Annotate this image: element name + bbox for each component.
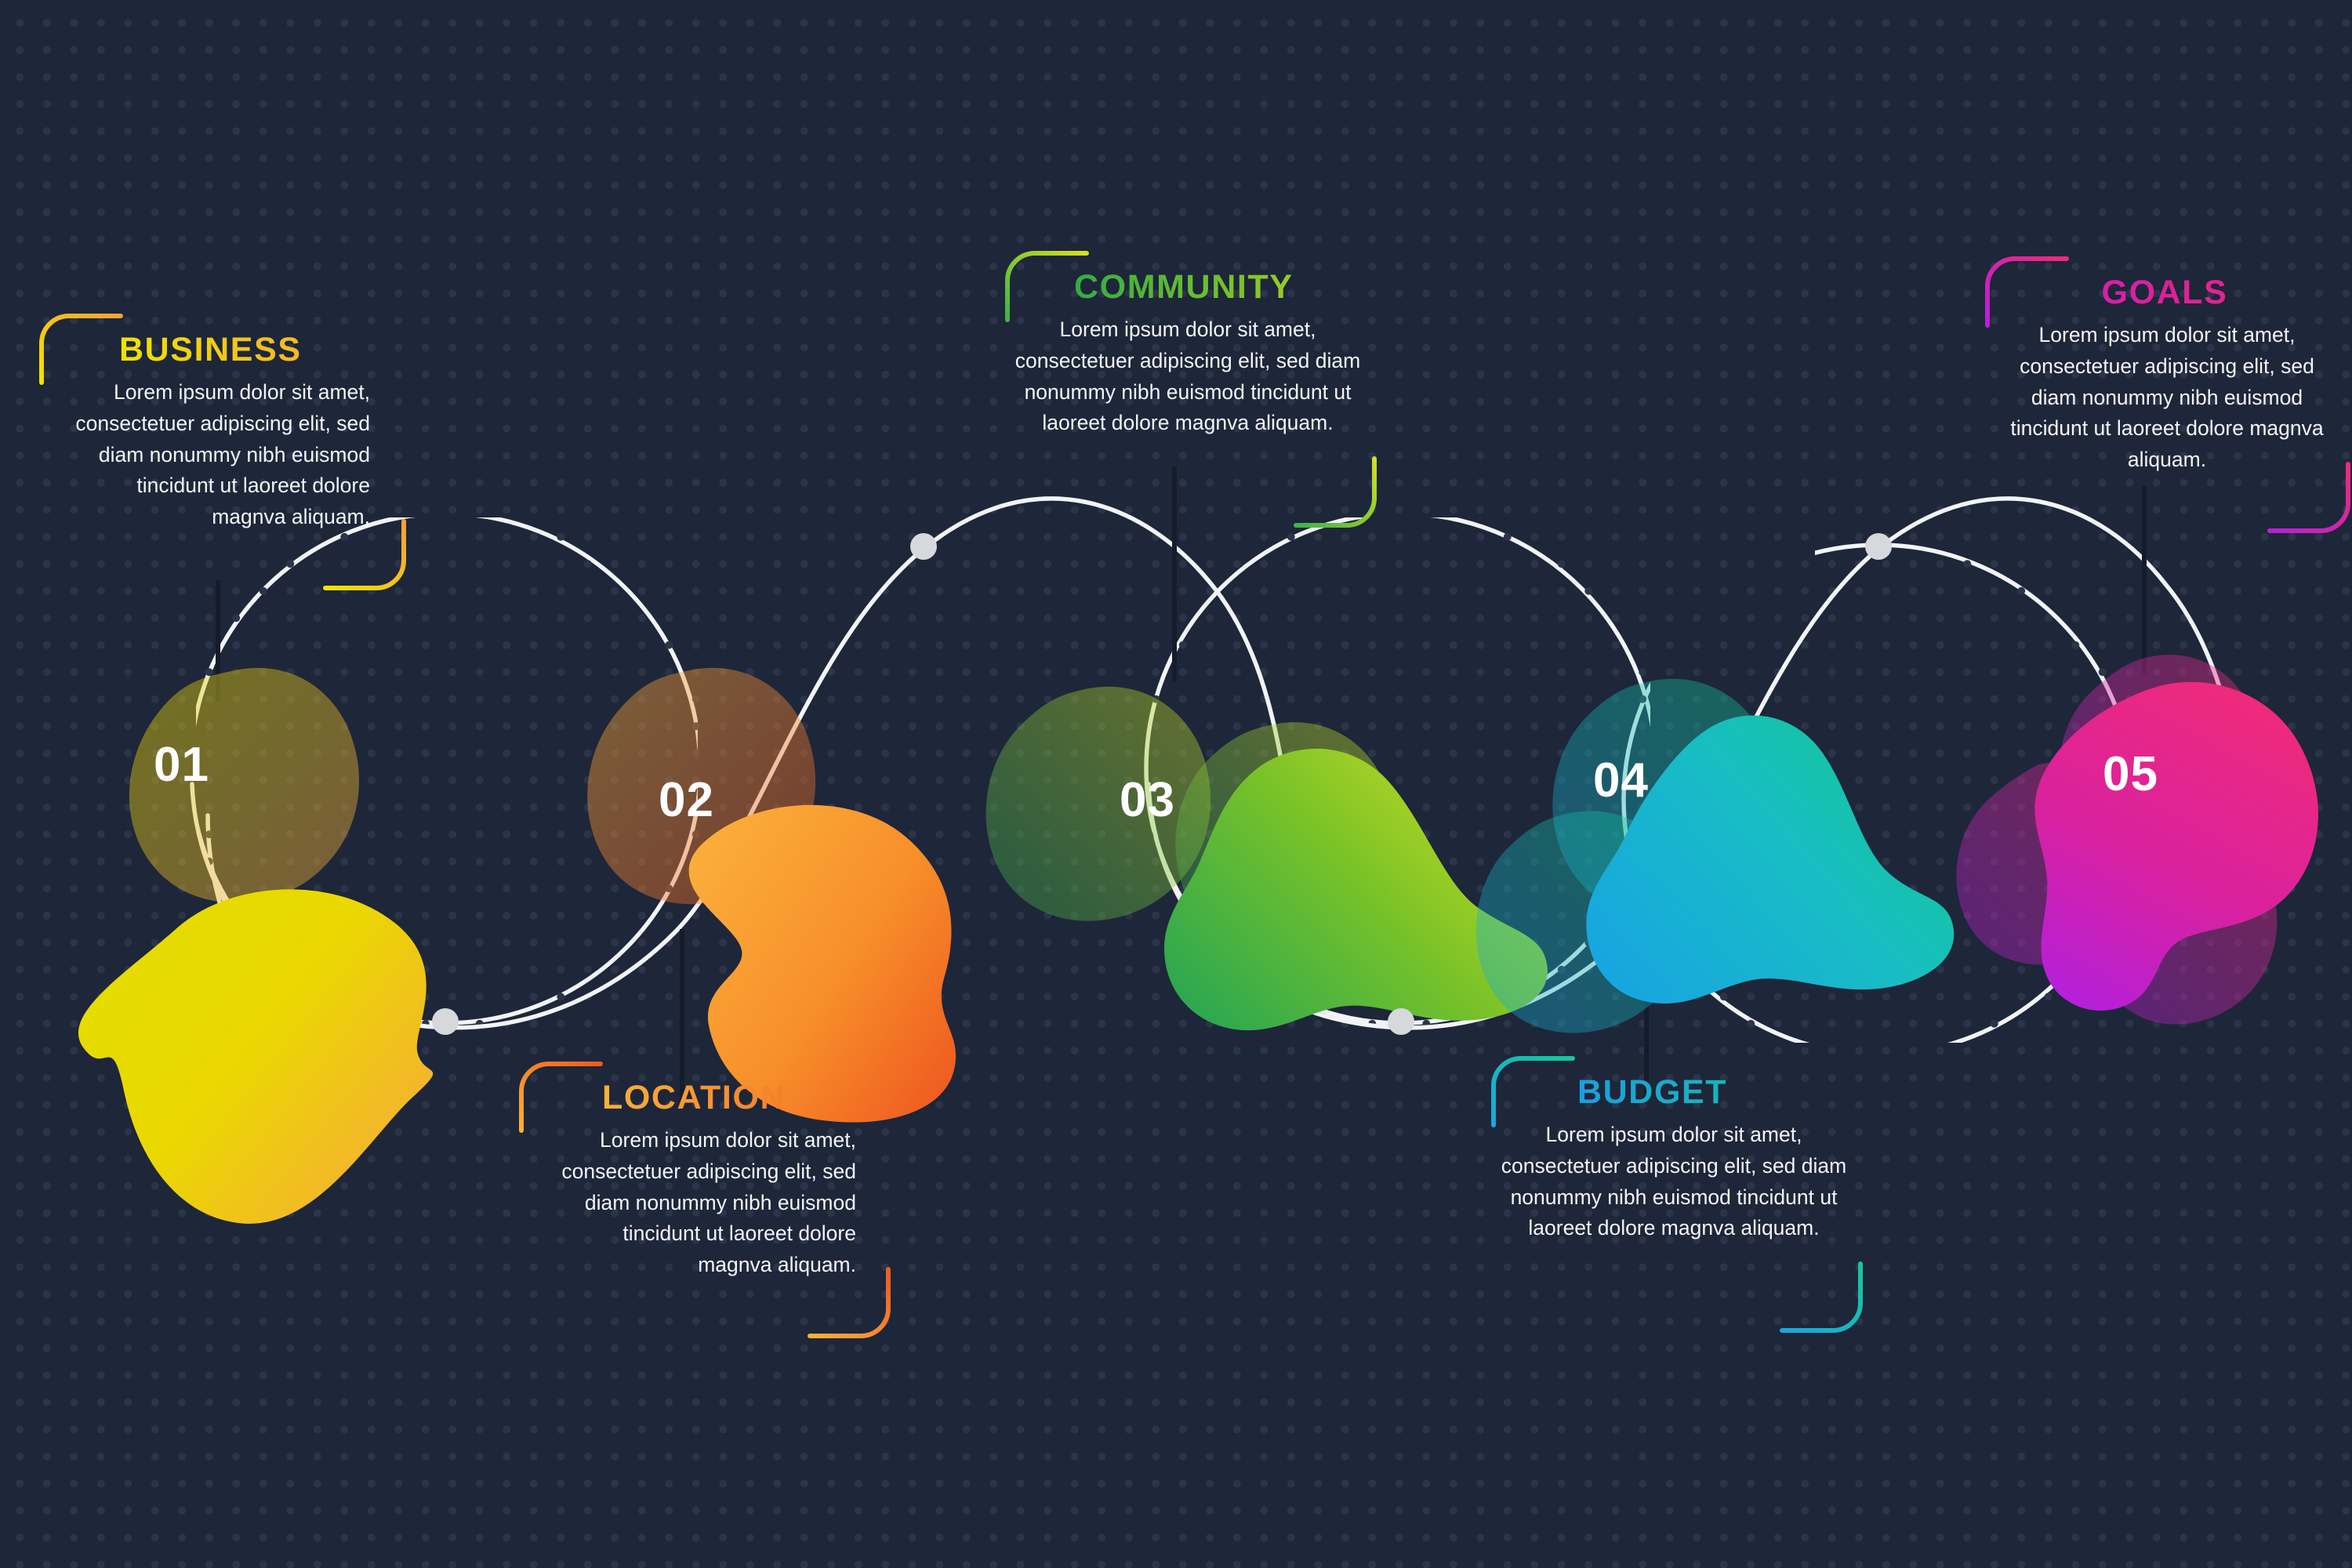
corner-bracket-top-left-4	[1490, 1054, 1576, 1129]
step-body-budget: Lorem ipsum dolor sit amet, consectetuer…	[1482, 1120, 1866, 1244]
text-block-community: COMMUNITY Lorem ipsum dolor sit amet, co…	[996, 249, 1380, 439]
step-title-community: COMMUNITY	[1074, 270, 1380, 305]
text-block-location: LOCATION Lorem ipsum dolor sit amet, con…	[510, 1060, 894, 1281]
step-title-business: BUSINESS	[119, 332, 408, 368]
step-body-community: Lorem ipsum dolor sit amet, consectetuer…	[996, 314, 1380, 439]
step-title-location: LOCATION	[602, 1080, 894, 1116]
step-body-business: Lorem ipsum dolor sit amet, consectetuer…	[31, 377, 408, 533]
infographic-canvas: 01 02 03 04 05 BUSINESS Lorem ipsum dolo…	[0, 0, 2352, 1568]
wave-node-4	[1865, 533, 1892, 560]
wave-node-3	[1388, 1008, 1414, 1035]
corner-bracket-top-left-2	[517, 1060, 604, 1134]
step-body-goals: Lorem ipsum dolor sit amet, consectetuer…	[1977, 320, 2352, 476]
step-title-budget: BUDGET	[1577, 1075, 1866, 1110]
step-body-location: Lorem ipsum dolor sit amet, consectetuer…	[510, 1125, 894, 1281]
text-block-goals: GOALS Lorem ipsum dolor sit amet, consec…	[1977, 255, 2352, 476]
wave-node-1	[910, 533, 937, 560]
wave-node-2	[432, 1008, 459, 1035]
text-block-business: BUSINESS Lorem ipsum dolor sit amet, con…	[31, 312, 408, 533]
text-block-budget: BUDGET Lorem ipsum dolor sit amet, conse…	[1482, 1054, 1866, 1244]
corner-bracket-top-left-1	[38, 312, 124, 387]
wave-node-layer	[0, 0, 2352, 1568]
step-title-goals: GOALS	[1977, 275, 2352, 310]
